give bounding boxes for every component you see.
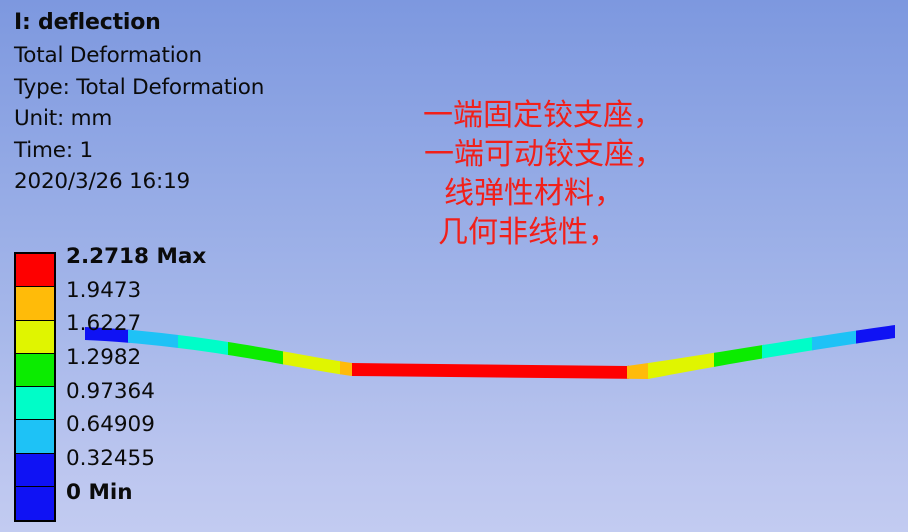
legend-label-4: 0.97364 — [66, 375, 216, 409]
result-info-block: I: deflection Total Deformation Type: To… — [14, 12, 264, 203]
legend-label-3: 1.2982 — [66, 341, 216, 375]
legend-label-6: 0.32455 — [66, 442, 216, 476]
annotation-line-1: 一端固定铰支座， — [398, 96, 688, 135]
annotation-text: 一端固定铰支座， 一端可动铰支座， 线弹性材料， 几何非线性， — [398, 96, 688, 252]
legend-label-min: 0 Min — [66, 476, 216, 510]
beam-band-6 — [352, 345, 629, 391]
legend-band-1 — [16, 287, 54, 320]
beam-band-10 — [762, 322, 814, 364]
result-type: Type: Total Deformation — [14, 77, 264, 99]
beam-band-8 — [648, 340, 716, 386]
legend-label-1: 1.9473 — [66, 274, 216, 308]
beam-band-5 — [340, 340, 354, 386]
result-unit: Unit: mm — [14, 108, 264, 130]
legend-band-7 — [16, 487, 54, 520]
result-timestamp: 2020/3/26 16:19 — [14, 171, 264, 193]
contour-legend[interactable]: 2.2718 Max 1.9473 1.6227 1.2982 0.97364 … — [14, 252, 214, 524]
page-title: I: deflection — [14, 12, 264, 34]
beam-band-7 — [627, 345, 650, 391]
legend-band-2 — [16, 321, 54, 354]
legend-band-6 — [16, 454, 54, 487]
legend-color-bar[interactable] — [14, 252, 56, 522]
annotation-line-3: 线弹性材料， — [398, 174, 688, 213]
legend-band-4 — [16, 387, 54, 420]
beam-band-3 — [228, 322, 284, 366]
result-name: Total Deformation — [14, 45, 264, 67]
annotation-line-4: 几何非线性， — [398, 213, 688, 252]
legend-band-0 — [16, 254, 54, 287]
result-time: Time: 1 — [14, 140, 264, 162]
annotation-line-2: 一端可动铰支座， — [398, 135, 688, 174]
legend-band-3 — [16, 354, 54, 387]
beam-band-4 — [283, 330, 341, 376]
beam-band-9 — [714, 330, 764, 374]
legend-labels: 2.2718 Max 1.9473 1.6227 1.2982 0.97364 … — [66, 240, 216, 510]
legend-band-5 — [16, 420, 54, 453]
beam-band-11 — [812, 316, 858, 356]
legend-label-5: 0.64909 — [66, 408, 216, 442]
legend-label-2: 1.6227 — [66, 307, 216, 341]
legend-label-max: 2.2718 Max — [66, 240, 216, 274]
beam-band-12 — [856, 310, 901, 350]
ansys-result-viewport: I: deflection Total Deformation Type: To… — [0, 0, 908, 532]
